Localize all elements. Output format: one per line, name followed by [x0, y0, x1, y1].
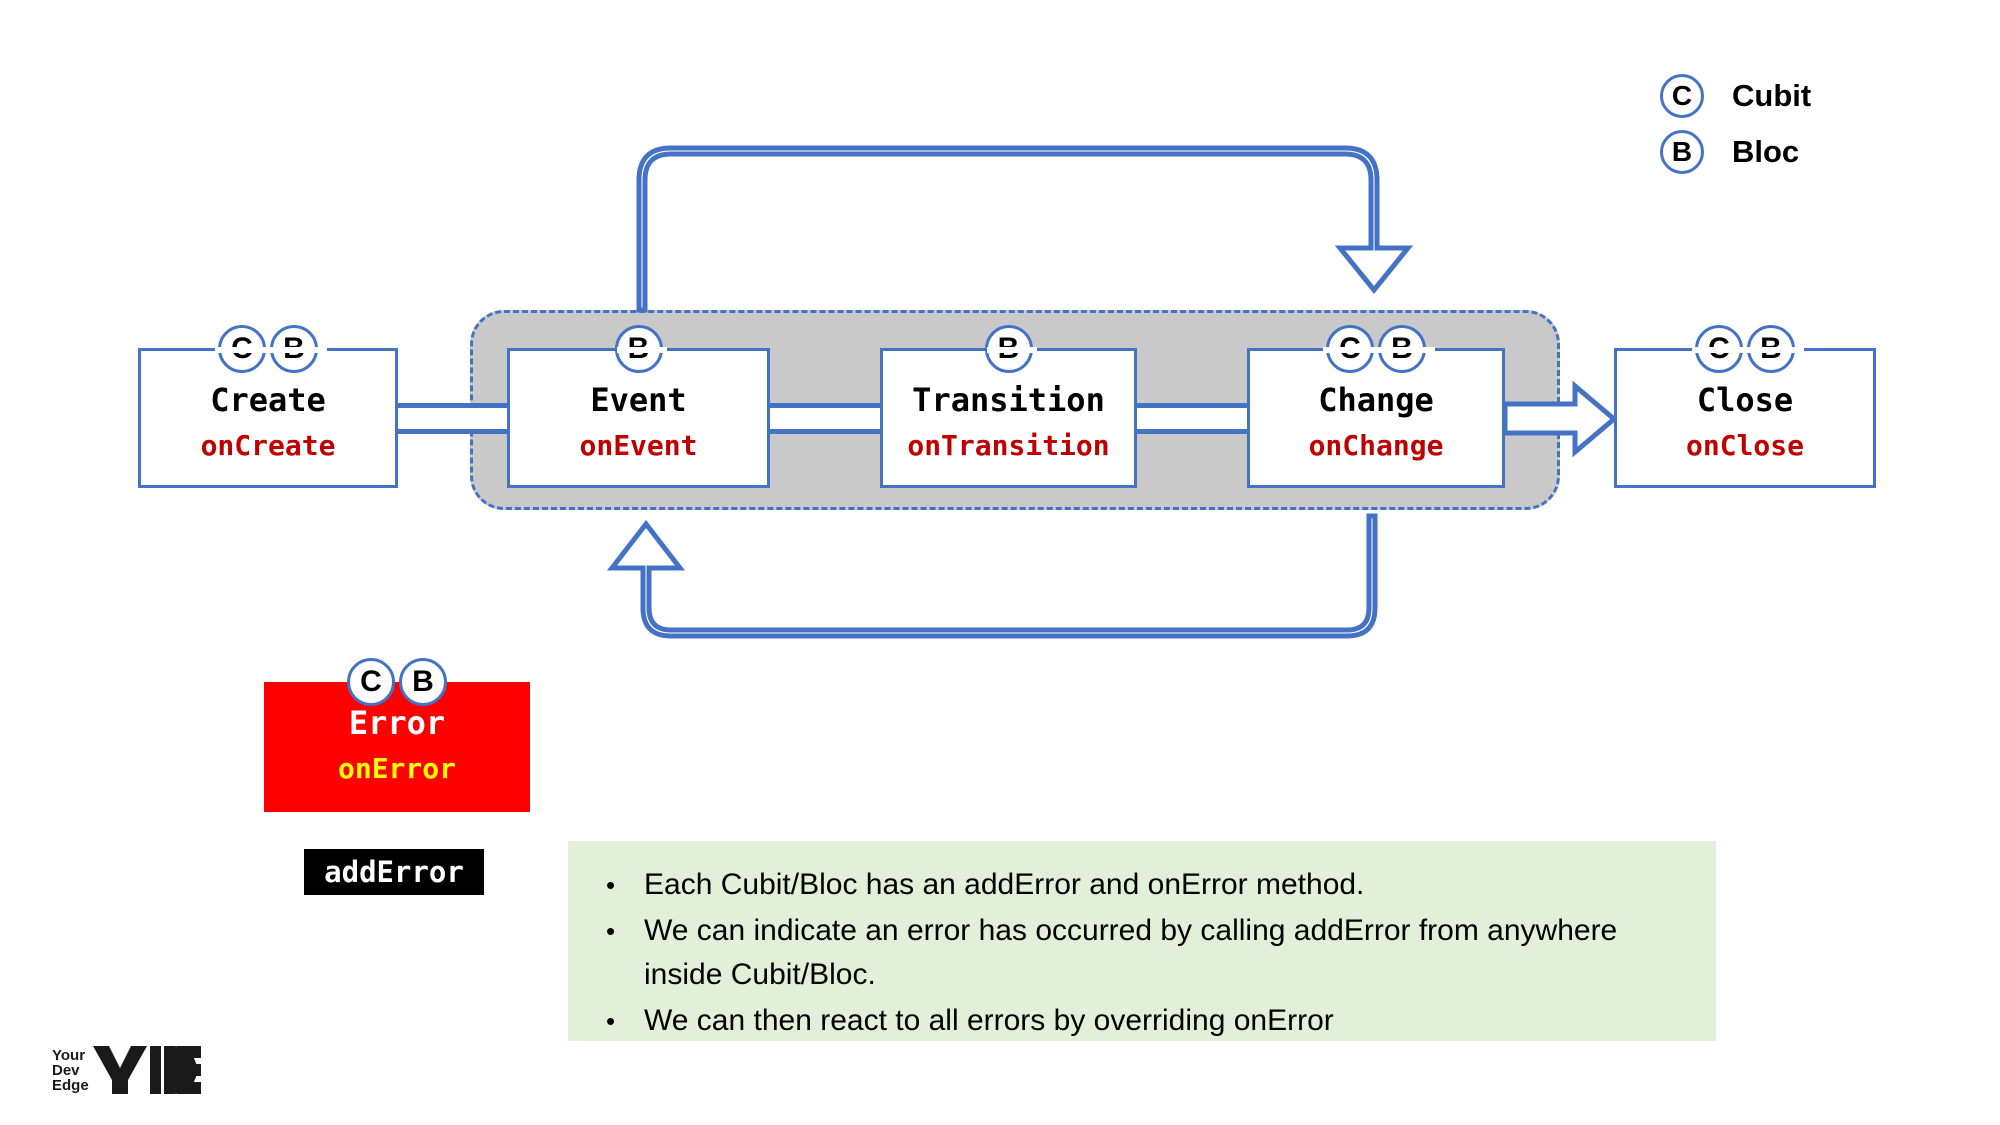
badge-border-mask [987, 347, 1037, 353]
legend-item-cubit: C Cubit [1660, 68, 1960, 124]
notes-panel: Each Cubit/Bloc has an addError and onEr… [568, 841, 1716, 1041]
node-close-method: onClose [1617, 429, 1873, 462]
node-error[interactable]: C B Error onError [264, 682, 530, 812]
legend: C Cubit B Bloc [1660, 68, 1960, 180]
node-transition-title: Transition [883, 381, 1134, 419]
node-change-title: Change [1250, 381, 1502, 419]
node-close[interactable]: C B Close onClose [1614, 348, 1876, 488]
diagram-canvas: C B Create onCreate B Event onEvent B Tr… [0, 0, 2000, 1125]
node-event-title: Event [510, 381, 767, 419]
logo-line-1: Your [52, 1048, 89, 1063]
legend-label-bloc: Bloc [1732, 134, 1799, 170]
node-event[interactable]: B Event onEvent [507, 348, 770, 488]
node-create-method: onCreate [141, 429, 395, 462]
logo-line-2: Dev [52, 1063, 89, 1078]
bloc-badge: B [399, 658, 447, 706]
node-create-title: Create [141, 381, 395, 419]
top-feedback-arrow [639, 148, 1408, 310]
legend-item-bloc: B Bloc [1660, 124, 1960, 180]
list-item: We can indicate an error has occurred by… [592, 909, 1688, 997]
badge-border-mask [1323, 347, 1435, 353]
logo-wordmark: Your Dev Edge [52, 1048, 89, 1093]
yde-logo: Your Dev Edge [52, 1044, 201, 1096]
top-feedback-arrow-outer [640, 148, 1410, 300]
node-error-method: onError [264, 752, 530, 785]
node-transition[interactable]: B Transition onTransition [880, 348, 1137, 488]
bottom-feedback-arrow [612, 516, 1375, 636]
bloc-badge: B [1660, 130, 1704, 174]
legend-label-cubit: Cubit [1732, 78, 1811, 114]
node-error-badges: C B [264, 658, 530, 706]
cubit-badge: C [347, 658, 395, 706]
yde-logo-mark-icon [93, 1044, 201, 1096]
badge-border-mask [1692, 347, 1804, 353]
list-item: We can then react to all errors by overr… [592, 999, 1688, 1043]
badge-border-mask [215, 347, 327, 353]
notes-list: Each Cubit/Bloc has an addError and onEr… [592, 863, 1688, 1043]
node-error-title: Error [264, 704, 530, 742]
node-close-title: Close [1617, 381, 1873, 419]
logo-line-3: Edge [52, 1078, 89, 1093]
node-change-method: onChange [1250, 429, 1502, 462]
node-create[interactable]: C B Create onCreate [138, 348, 398, 488]
add-error-tag: addError [304, 849, 484, 895]
cubit-badge: C [1660, 74, 1704, 118]
list-item: Each Cubit/Bloc has an addError and onEr… [592, 863, 1688, 907]
node-event-method: onEvent [510, 429, 767, 462]
badge-border-mask [617, 347, 667, 353]
node-transition-method: onTransition [883, 429, 1134, 462]
node-change[interactable]: C B Change onChange [1247, 348, 1505, 488]
